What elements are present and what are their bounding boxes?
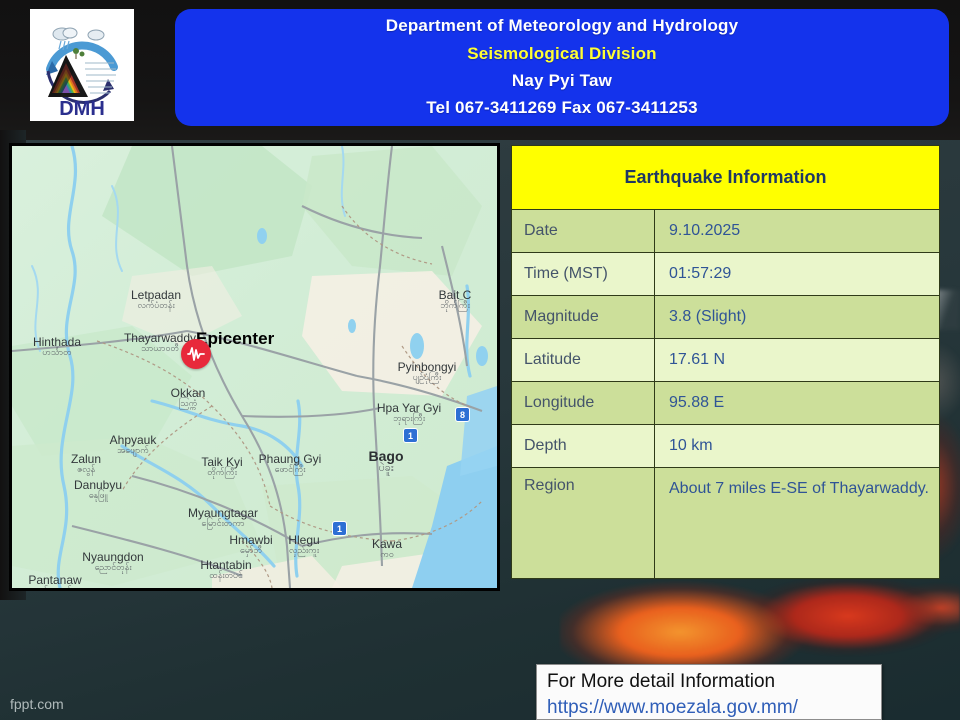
table-row-key: Latitude xyxy=(512,339,655,381)
map-place-label: Hpa Yar Gyiဘုရားကြီး xyxy=(377,402,441,423)
map-place-label: Danubyuဓနုဖြူ xyxy=(74,479,122,500)
table-rows-container: Date9.10.2025Time (MST)01:57:29Magnitude… xyxy=(512,210,939,578)
table-row-key: Date xyxy=(512,210,655,252)
map-place-name-my: ဓနုဖြူ xyxy=(74,491,122,500)
map-place-name-my: ထန်းတပင် xyxy=(200,571,251,580)
table-row-key: Region xyxy=(512,468,655,578)
map-place-label: Phaung Gyiဖောင်ကြီး xyxy=(259,453,322,474)
seismograph-wave-icon xyxy=(186,344,206,364)
map-place-name-my: ဇလွန် xyxy=(71,465,101,474)
map-place-name-my: ဘိုက်ကြီး xyxy=(439,301,472,310)
table-row: Magnitude3.8 (Slight) xyxy=(512,296,939,339)
map-place-name-my: အဖျောက် xyxy=(110,446,157,455)
table-row-key: Magnitude xyxy=(512,296,655,338)
map-place-label: Hleguလှည်းကူး xyxy=(288,534,319,555)
table-row-value: 17.61 N xyxy=(655,339,939,381)
table-row: Depth10 km xyxy=(512,425,939,468)
header-banner: Department of Meteorology and Hydrology … xyxy=(175,9,949,126)
map-place-label: Kawaကဝ xyxy=(372,538,402,559)
table-row-value: 95.88 E xyxy=(655,382,939,424)
map-place-label: Zalunဇလွန် xyxy=(71,453,101,474)
header-line-contact: Tel 067-3411269 Fax 067-3411253 xyxy=(426,95,698,121)
map-place-name-my: လှည်းကူး xyxy=(288,546,319,555)
map-place-label: Hinthadaဟင်္သာတ xyxy=(33,336,81,357)
map-place-label: Letpadanလက်ပံတန်း xyxy=(131,289,181,310)
table-row: Latitude17.61 N xyxy=(512,339,939,382)
table-row-value: 9.10.2025 xyxy=(655,210,939,252)
map-place-name-my: လက်ပံတန်း xyxy=(131,301,181,310)
map-place-name-my: ဩက္ကံ xyxy=(171,399,206,408)
dmh-logo-text: DMH xyxy=(59,98,105,120)
map-place-name-my: ပဲခူး xyxy=(369,463,404,474)
road-shield-icon: 8 xyxy=(455,407,470,422)
map-place-name-my: ဟင်္သာတ xyxy=(33,348,81,357)
map-place-label: Myaungtagarမြောင်းတကာ xyxy=(188,507,258,528)
map-place-label: Bagoပဲခူး xyxy=(369,449,404,474)
dmh-logo: DMH xyxy=(30,9,134,121)
map-place-label: Okkanဩက္ကံ xyxy=(171,387,206,408)
earthquake-information-slide: DMH Department of Meteorology and Hydrol… xyxy=(0,0,960,720)
map-place-label: Hmawbiမှော်ဘီ xyxy=(229,534,272,555)
epicenter-map[interactable]: Letpadanလက်ပံတန်းThayarwaddyသာယာဝတီHinth… xyxy=(9,143,500,591)
table-row-key: Depth xyxy=(512,425,655,467)
moezala-website-link[interactable]: https://www.moezala.gov.mm/ xyxy=(547,695,871,720)
map-place-label: Pantanawပန်းတနော် xyxy=(28,574,81,591)
earthquake-info-table: Earthquake Information Date9.10.2025Time… xyxy=(511,145,940,579)
map-place-label: Ahpyaukအဖျောက် xyxy=(110,434,157,455)
dmh-water-cycle-logo: DMH xyxy=(30,9,134,121)
epicenter-marker[interactable] xyxy=(181,339,211,369)
table-row: RegionAbout 7 miles E-SE of Thayarwaddy. xyxy=(512,468,939,578)
map-place-name-my: တိုက်ကြီး xyxy=(201,468,242,477)
fppt-watermark: fppt.com xyxy=(10,696,64,712)
more-info-box[interactable]: For More detail Information https://www.… xyxy=(536,664,882,720)
table-row-key: Time (MST) xyxy=(512,253,655,295)
header-line-department: Department of Meteorology and Hydrology xyxy=(386,13,739,39)
map-place-name-my: မြောင်းတကာ xyxy=(188,519,258,528)
map-place-label: Pyinbongyiပျဉ်ပုံကြီး xyxy=(398,361,457,382)
map-place-name-my: မှော်ဘီ xyxy=(229,546,272,555)
header-line-city: Nay Pyi Taw xyxy=(512,68,612,94)
map-place-label: Bait Cဘိုက်ကြီး xyxy=(439,289,472,310)
table-row-value: 01:57:29 xyxy=(655,253,939,295)
map-place-label: Nyaungdonညောင်တုန်း xyxy=(82,551,143,572)
header-line-division: Seismological Division xyxy=(467,41,657,67)
road-shield-icon: 1 xyxy=(403,428,418,443)
map-place-label: Taik Kyiတိုက်ကြီး xyxy=(201,456,242,477)
map-place-name-my: ဖောင်ကြီး xyxy=(259,465,322,474)
map-place-name-my: ဘုရားကြီး xyxy=(377,414,441,423)
table-row: Time (MST)01:57:29 xyxy=(512,253,939,296)
map-place-label: Htantabinထန်းတပင် xyxy=(200,559,251,580)
map-place-name-my: ပျဉ်ပုံကြီး xyxy=(398,373,457,382)
road-shield-icon: 1 xyxy=(332,521,347,536)
map-place-name-my: ကဝ xyxy=(372,550,402,559)
table-row: Longitude95.88 E xyxy=(512,382,939,425)
table-row-value: About 7 miles E-SE of Thayarwaddy. xyxy=(655,468,939,578)
table-title: Earthquake Information xyxy=(512,146,939,210)
table-row: Date9.10.2025 xyxy=(512,210,939,253)
table-row-value: 3.8 (Slight) xyxy=(655,296,939,338)
table-row-value: 10 km xyxy=(655,425,939,467)
more-info-label: For More detail Information xyxy=(547,669,871,695)
table-row-key: Longitude xyxy=(512,382,655,424)
map-place-name-my: ညောင်တုန်း xyxy=(82,563,143,572)
